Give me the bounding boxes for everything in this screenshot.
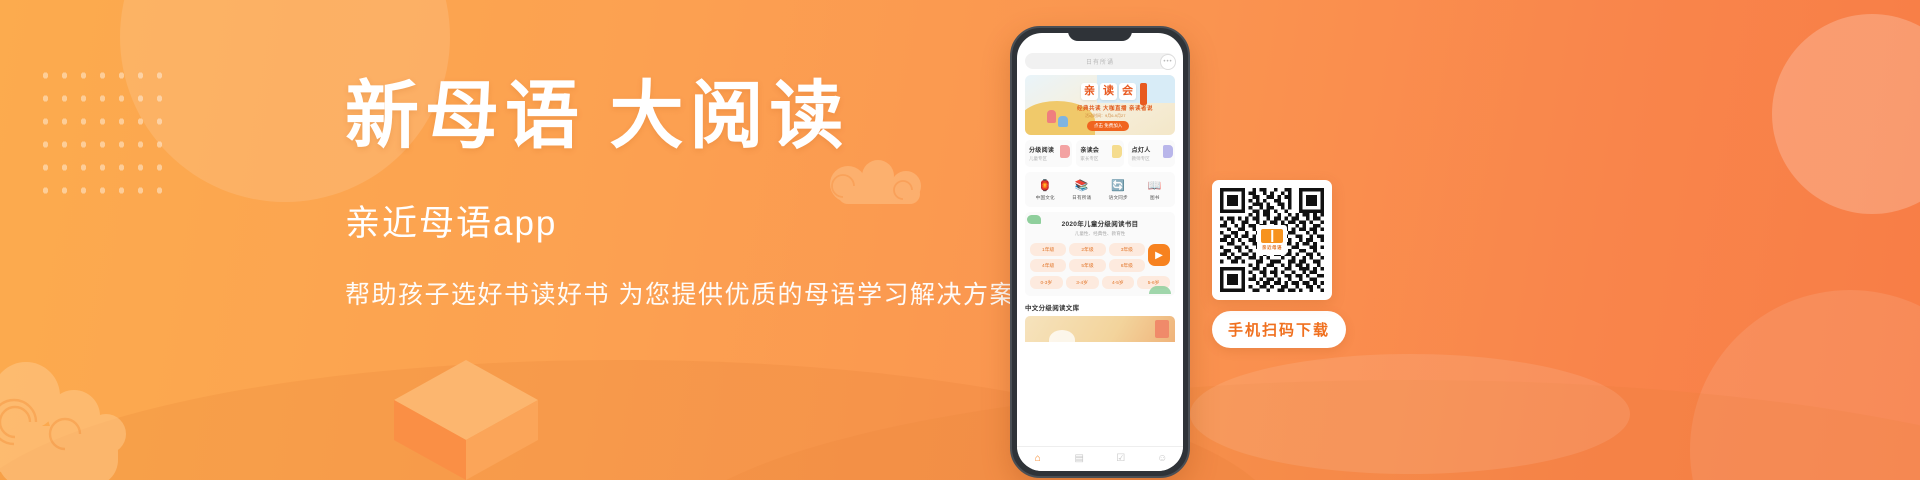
quick-icon-label: 中国文化 (1027, 195, 1064, 201)
leaf-decoration-icon (1027, 215, 1041, 224)
page-title: 新母语 大阅读 (345, 80, 1025, 154)
grade-button[interactable]: 1年级 (1030, 243, 1066, 256)
promo-subtitle: 经典共读 大咖直播 亲读者说 (1077, 104, 1153, 112)
app-category-cards: 分级阅读 儿童专区 亲读会 家长专区 点灯人 教师专区 (1025, 140, 1175, 167)
quick-icon-label: 日有所诵 (1064, 195, 1101, 201)
phone-notch (1068, 28, 1132, 41)
age-button[interactable]: 3-4岁 (1066, 276, 1099, 289)
book-icon (1163, 145, 1173, 158)
grade-button[interactable]: 4年级 (1030, 259, 1066, 272)
library-arc-shape (1049, 330, 1075, 342)
app-name: 亲近母语app (345, 206, 1025, 241)
books-icon: 📚 (1064, 181, 1101, 192)
qr-center-logo: 亲近母语 (1257, 225, 1287, 255)
app-bottom-nav: ⌂ ▤ ☑ ☺ (1017, 446, 1183, 471)
nav-list-icon[interactable]: ▤ (1059, 454, 1101, 464)
book-icon (1060, 145, 1070, 158)
video-play-icon[interactable]: ▶ (1148, 244, 1170, 266)
decorative-phone-shadow-ellipse (1190, 354, 1630, 474)
search-placeholder: 日有所诵 (1086, 57, 1114, 66)
promo-child-figure-1 (1047, 110, 1056, 123)
book-logo-icon (1261, 229, 1283, 243)
lantern-icon: 🏮 (1027, 181, 1064, 192)
app-promo-banner[interactable]: 亲 读 会 经典共读 大咖直播 亲读者说 活动时间：9月6-9月27 点击 免费… (1025, 75, 1175, 135)
category-card-graded-reading[interactable]: 分级阅读 儿童专区 (1025, 140, 1072, 167)
library-section-title: 中文分级阅读文库 (1025, 302, 1175, 312)
sync-icon: 🔄 (1100, 181, 1137, 192)
leaf-decoration-icon (1149, 286, 1171, 294)
quick-icon-label: 图书 (1137, 195, 1174, 201)
nav-home-icon[interactable]: ⌂ (1017, 454, 1059, 464)
promo-child-figure-2 (1058, 116, 1068, 127)
promo-date: 活动时间：9月6-9月27 (1085, 113, 1125, 119)
age-button[interactable]: 4-5岁 (1102, 276, 1135, 289)
phone-screen: 日有所诵 ••• 亲 读 会 经典共读 大咖直播 亲读者说 活动时间：9月6-9… (1017, 33, 1183, 471)
decorative-circle-top-right (1772, 14, 1920, 214)
quick-icon-daily-recite[interactable]: 📚 日有所诵 (1064, 178, 1101, 201)
decorative-arc-right (660, 380, 1920, 480)
decorative-cube (390, 354, 542, 480)
phone-mockup: 日有所诵 ••• 亲 读 会 经典共读 大咖直播 亲读者说 活动时间：9月6-9… (1010, 26, 1190, 478)
library-cover-image[interactable] (1025, 316, 1175, 342)
promo-flag (1140, 83, 1147, 105)
decorative-dot-grid (34, 62, 170, 210)
grade-button[interactable]: 6年级 (1109, 259, 1145, 272)
decorative-circle-bottom-right (1690, 290, 1920, 480)
promo-cta-button[interactable]: 点击 免费加入 (1087, 121, 1129, 131)
grade-selector: 1年级 2年级 3年级 4年级 5年级 6年级 ▶ (1030, 243, 1170, 275)
nav-check-icon[interactable]: ☑ (1100, 454, 1142, 464)
qr-logo-label: 亲近母语 (1262, 245, 1282, 251)
library-book-shape (1155, 320, 1169, 338)
promo-title: 亲 读 会 (1081, 83, 1147, 105)
promo-banner: 新母语 大阅读 亲近母语app 帮助孩子选好书读好书 为您提供优质的母语学习解决… (0, 0, 1920, 480)
grade-button[interactable]: 3年级 (1109, 243, 1145, 256)
promo-title-char-3: 会 (1119, 83, 1136, 100)
grade-button[interactable]: 5年级 (1069, 259, 1105, 272)
scan-download-button[interactable]: 手机扫码下载 (1212, 311, 1346, 348)
banner-tagline: 帮助孩子选好书读好书 为您提供优质的母语学习解决方案 (345, 283, 1025, 308)
book-icon (1112, 145, 1122, 158)
banner-copy: 新母语 大阅读 亲近母语app 帮助孩子选好书读好书 为您提供优质的母语学习解决… (345, 80, 1025, 308)
promo-title-char-1: 亲 (1081, 83, 1098, 100)
qr-code-card: 亲近母语 (1212, 180, 1332, 300)
nav-profile-icon[interactable]: ☺ (1142, 454, 1184, 464)
category-card-parent-club[interactable]: 亲读会 家长专区 (1076, 140, 1123, 167)
quick-icon-label: 语文同步 (1100, 195, 1137, 201)
grade-button[interactable]: 2年级 (1069, 243, 1105, 256)
decorative-cloud-bottom-left (0, 338, 198, 480)
promo-title-char-2: 读 (1100, 83, 1117, 100)
quick-icon-chinese-culture[interactable]: 🏮 中国文化 (1027, 178, 1064, 201)
app-search-bar[interactable]: 日有所诵 ••• (1025, 53, 1175, 69)
category-card-teacher[interactable]: 点灯人 教师专区 (1128, 140, 1175, 167)
open-book-icon: 📖 (1137, 181, 1174, 192)
booklist-title: 2020年儿童分级阅读书目 (1030, 218, 1170, 228)
qr-download-block: 亲近母语 手机扫码下载 (1212, 180, 1332, 348)
age-selector: 0-3岁 3-4岁 4-5岁 5-6岁 (1030, 276, 1170, 289)
age-button[interactable]: 0-3岁 (1030, 276, 1063, 289)
app-quick-icon-row: 🏮 中国文化 📚 日有所诵 🔄 语文同步 📖 图书 (1025, 172, 1175, 207)
quick-icon-sync-lessons[interactable]: 🔄 语文同步 (1100, 178, 1137, 201)
quick-icon-books[interactable]: 📖 图书 (1137, 178, 1174, 201)
app-booklist-section: 2020年儿童分级阅读书目 儿童性、经典性、教育性 1年级 2年级 3年级 4年… (1025, 212, 1175, 296)
more-icon[interactable]: ••• (1160, 54, 1176, 70)
booklist-subtitle: 儿童性、经典性、教育性 (1030, 231, 1170, 237)
